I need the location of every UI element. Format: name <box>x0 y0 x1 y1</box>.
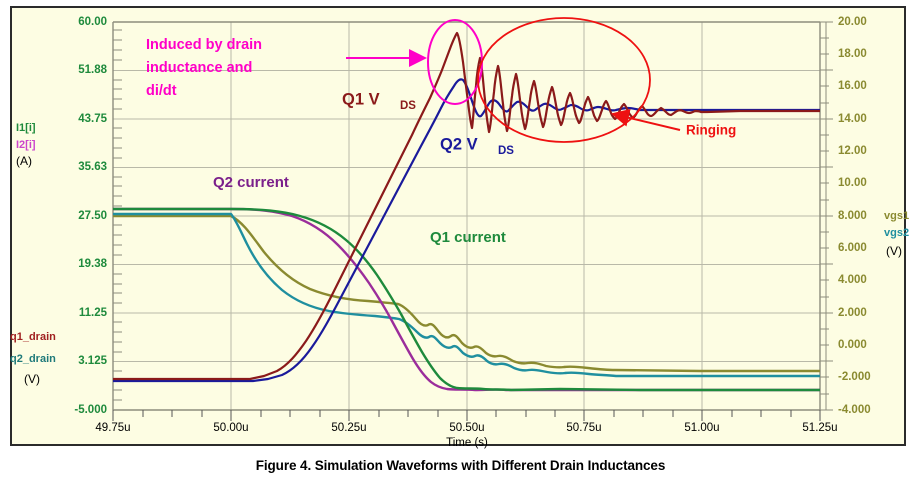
right-axis-tick-labels: 20.00 18.00 16.00 14.00 12.00 10.00 8.00… <box>838 16 871 416</box>
x-tick-4: 50.75u <box>566 422 601 434</box>
q1-vds-subscript: DS <box>400 100 416 112</box>
right-tick-8: 4.000 <box>838 274 867 286</box>
x-tick-1: 50.00u <box>213 422 248 434</box>
x-tick-5: 51.00u <box>684 422 719 434</box>
q1-vds-label: Q1 V <box>342 90 380 108</box>
induced-line-3: di/dt <box>146 83 177 99</box>
right-tick-0: 20.00 <box>838 16 867 28</box>
x-axis-ticks <box>113 410 820 421</box>
axis-label-i1: I1[i] <box>16 122 36 134</box>
figure-root: 60.00 51.88 43.75 35.63 27.50 19.38 11.2… <box>0 0 921 497</box>
x-tick-2: 50.25u <box>331 422 366 434</box>
x-axis-tick-labels: 49.75u 50.00u 50.25u 50.50u 50.75u 51.00… <box>95 422 837 449</box>
axis-label-i2: I2[i] <box>16 139 36 151</box>
q2-vds-subscript: DS <box>498 145 514 157</box>
x-tick-6: 51.25u <box>802 422 837 434</box>
induced-line-1: Induced by drain <box>146 37 262 53</box>
q2-vds-label: Q2 V <box>440 135 478 153</box>
axis-label-vgs2: vgs2 <box>884 227 909 239</box>
axis-label-q2drain: q2_drain <box>10 353 56 365</box>
x-axis-title: Time (s) <box>446 437 488 449</box>
axis-label-q1drain: q1_drain <box>10 331 56 343</box>
x-tick-3: 50.50u <box>449 422 484 434</box>
waveform-chart: 60.00 51.88 43.75 35.63 27.50 19.38 11.2… <box>0 0 921 450</box>
right-tick-11: -2.000 <box>838 371 871 383</box>
ringing-label: Ringing <box>686 123 736 138</box>
right-tick-2: 16.00 <box>838 80 867 92</box>
left-axis-tick-labels: 60.00 51.88 43.75 35.63 27.50 19.38 11.2… <box>74 16 107 416</box>
right-tick-1: 18.00 <box>838 48 867 60</box>
axis-label-volts-left: (V) <box>24 372 40 386</box>
left-tick-6: 11.25 <box>79 307 108 319</box>
left-tick-5: 19.38 <box>78 258 107 270</box>
left-tick-2: 43.75 <box>78 113 107 125</box>
right-axis-series-labels: vgs1 vgs2 (V) <box>884 210 909 258</box>
left-tick-0: 60.00 <box>78 16 107 28</box>
figure-caption: Figure 4. Simulation Waveforms with Diff… <box>0 458 921 473</box>
axis-label-vgs1: vgs1 <box>884 210 909 222</box>
right-tick-6: 8.000 <box>838 210 867 222</box>
x-tick-0: 49.75u <box>95 422 130 434</box>
q1-current-label: Q1 current <box>430 229 506 246</box>
left-tick-4: 27.50 <box>78 210 107 222</box>
right-tick-10: 0.000 <box>838 339 867 351</box>
left-tick-8: -5.000 <box>74 404 107 416</box>
axis-label-volts-right: (V) <box>886 244 902 258</box>
right-tick-5: 10.00 <box>838 177 867 189</box>
left-tick-3: 35.63 <box>78 161 107 173</box>
axis-label-amps: (A) <box>16 154 32 168</box>
induced-line-2: inductance and <box>146 60 252 76</box>
q2-current-label: Q2 current <box>213 174 289 191</box>
right-tick-7: 6.000 <box>838 242 867 254</box>
right-tick-12: -4.000 <box>838 404 871 416</box>
left-tick-7: 3.125 <box>78 355 107 367</box>
right-tick-4: 12.00 <box>838 145 867 157</box>
right-tick-9: 2.000 <box>838 307 867 319</box>
left-axis-series-labels: I1[i] I2[i] (A) q1_drain q2_drain (V) <box>10 122 56 386</box>
right-tick-3: 14.00 <box>838 113 867 125</box>
right-axis-minor-ticks <box>820 22 833 410</box>
left-tick-1: 51.88 <box>78 64 107 76</box>
